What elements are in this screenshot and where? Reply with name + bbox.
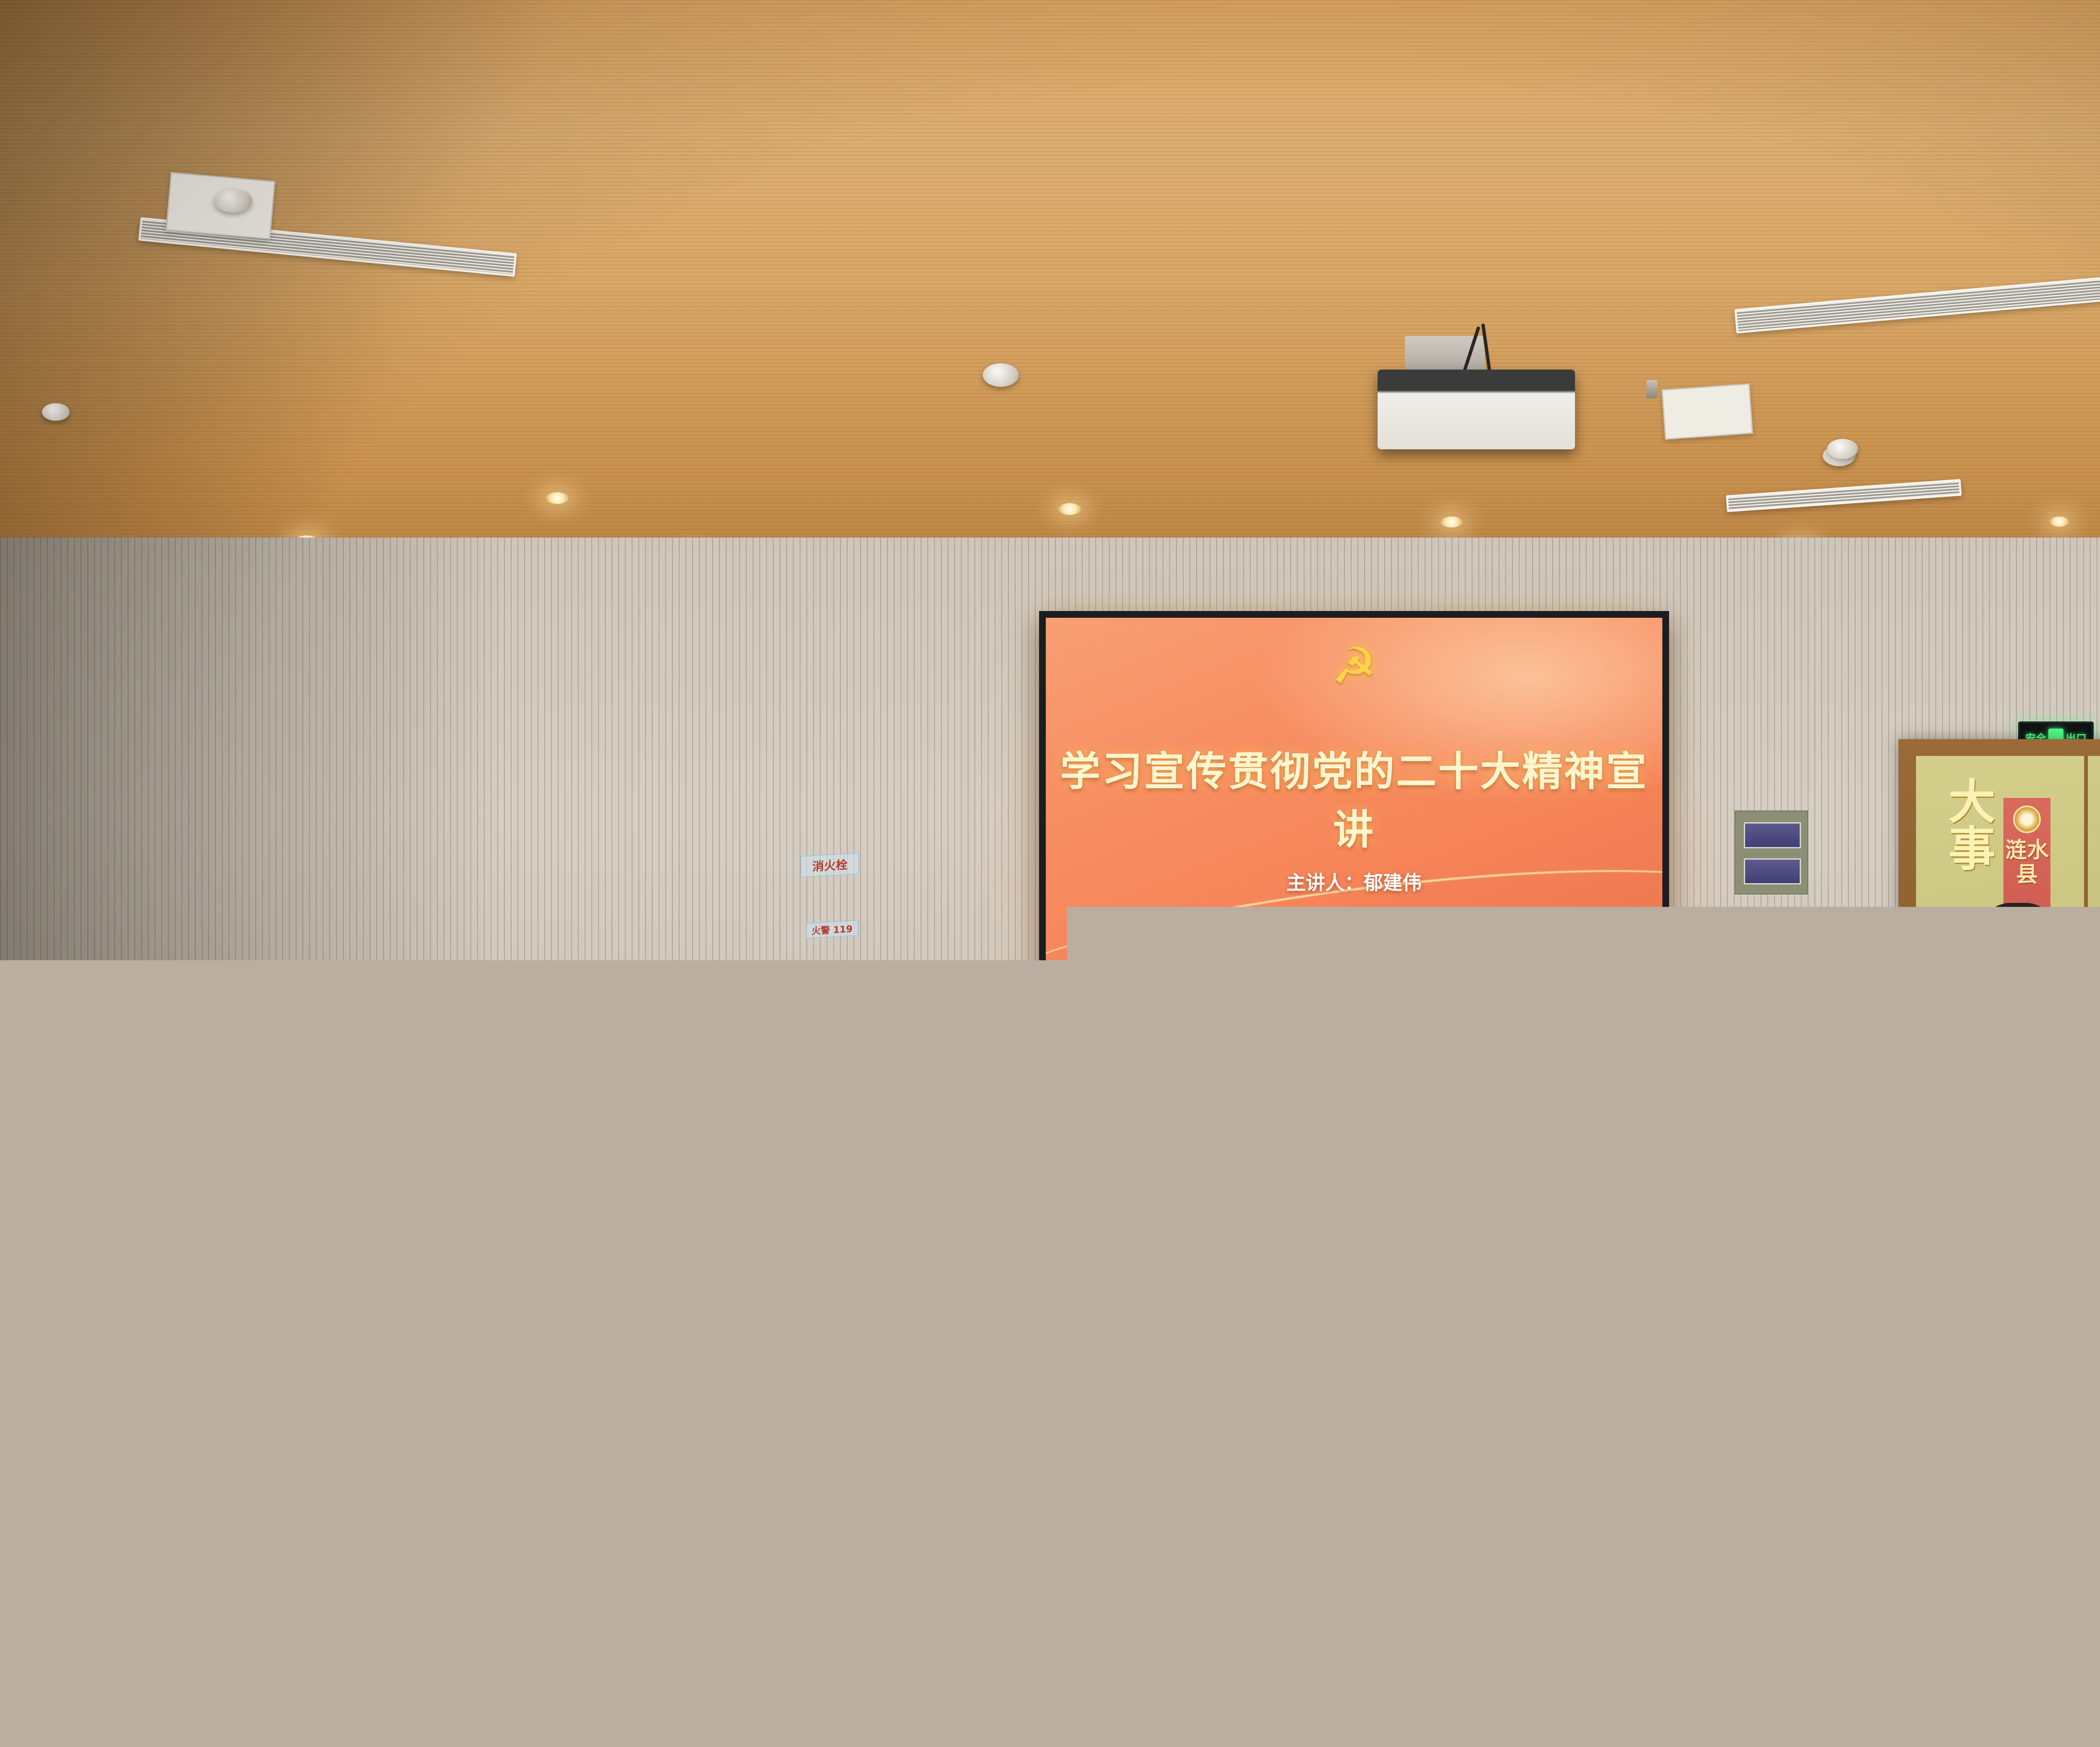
water-bottle <box>1270 1046 1287 1079</box>
fire-alarm-119-sign: 火警 119 <box>806 920 858 939</box>
attendee-head <box>1703 1159 1850 1453</box>
mug-lid <box>1362 1116 1399 1126</box>
vertical-red-sign-text: 涟水县 <box>2003 838 2050 887</box>
ceiling-projector <box>1378 370 1575 449</box>
bottle-label <box>1270 1059 1287 1070</box>
ceiling-downlight <box>1441 517 1462 527</box>
slide-title: 学习宣传贯彻党的二十大精神宣讲 <box>1046 739 1662 855</box>
tote-bag-handle <box>1853 1078 1889 1093</box>
tote-bag: 图书馆 <box>1840 1092 1903 1176</box>
nameplate-zhu-qinling: 朱秦岭 <box>1258 1214 1350 1276</box>
ceiling-shadow-right <box>2033 0 2100 630</box>
nameplate-zhao-yongxiang: 赵永祥 <box>1242 1101 1324 1164</box>
attendee-head <box>538 989 606 1063</box>
breaker-row <box>1744 822 1801 848</box>
water-bottle <box>1469 1370 1501 1461</box>
mug-lid <box>1391 1224 1428 1234</box>
desk-leg <box>1296 1290 1303 1378</box>
mug-coaster <box>1357 1168 1404 1175</box>
chair[interactable] <box>1462 1225 1588 1364</box>
desk-caddy <box>706 1478 827 1625</box>
mug-coaster <box>1387 1273 1433 1280</box>
desk <box>613 1159 953 1176</box>
camera-lcd-screen <box>1938 956 1973 981</box>
ceiling-shadow-left <box>0 0 630 613</box>
chair-mesh <box>1399 1558 1558 1676</box>
doorway-banner-text: 大事 <box>1944 777 1992 871</box>
institution-seal-icon <box>2013 805 2041 833</box>
presenter-head <box>1209 960 1262 1023</box>
desk-leg <box>193 1273 201 1391</box>
tote-bag-handle <box>1802 1082 1837 1097</box>
party-emblem-icon: ☭ <box>1331 641 1377 692</box>
water-bottle <box>1357 1214 1381 1276</box>
desk-leg <box>802 1273 810 1391</box>
conference-room-photo: 消火栓 火警 119 灭火器箱 安全 出口 大事 涟水县 ☭ 学习宣传贯彻党的二… <box>0 0 2100 1747</box>
water-bottle <box>1330 1110 1354 1172</box>
chair-mesh <box>542 1193 672 1272</box>
bottle-label <box>1330 1134 1354 1155</box>
ceiling-downlight <box>2050 517 2069 527</box>
bottle-cap <box>1333 1099 1350 1110</box>
placard-gloss <box>1306 1039 1323 1067</box>
attendee-torso <box>282 1122 543 1378</box>
smoke-detector <box>983 363 1019 387</box>
chair-mesh <box>1466 1230 1583 1360</box>
desk-leg <box>580 1486 589 1654</box>
placard-gloss <box>1254 1101 1272 1164</box>
placard-gloss <box>1343 1361 1373 1459</box>
ceiling-downlight <box>546 492 569 504</box>
attendee-head <box>1646 1075 1725 1159</box>
sprinkler-head <box>1646 380 1657 399</box>
bottle-label <box>1469 1406 1501 1437</box>
extinguisher-box-sign: 灭火器箱 <box>807 1053 862 1074</box>
projection-screen: ☭ 学习宣传贯彻党的二十大精神宣讲 主讲人：郁建伟 主办单位：淮安市图书馆联盟 … <box>1039 611 1669 1044</box>
slide-presenter-line: 主讲人：郁建伟 <box>1046 868 1662 895</box>
attendee-head <box>378 1050 453 1134</box>
attendee-head <box>0 1134 97 1361</box>
bottle-cap <box>1473 1355 1497 1371</box>
placard-gloss <box>1271 1214 1291 1276</box>
tea-mug <box>1394 1231 1426 1275</box>
chair[interactable] <box>1394 1554 1562 1680</box>
door-leaf[interactable] <box>2086 756 2100 1256</box>
tote-bag-text: 图书馆 <box>1840 1120 1903 1131</box>
desk-leg <box>886 1176 894 1256</box>
fire-hydrant-sign: 消火栓 <box>801 853 859 878</box>
ceiling-access-panel <box>1662 383 1753 440</box>
ceiling-downlight <box>1058 503 1081 515</box>
desk-leg <box>1373 1487 1383 1655</box>
ceiling-sensor <box>42 403 70 421</box>
breaker-row <box>1744 858 1801 884</box>
smoke-detector <box>1827 439 1858 459</box>
bottle-cap <box>1273 1038 1284 1046</box>
chair[interactable] <box>538 1188 676 1277</box>
nameplate-yang-qianqian: 杨倩倩 <box>1324 1361 1461 1459</box>
paper-stack <box>714 1461 819 1487</box>
presentation-slide: ☭ 学习宣传贯彻党的二十大精神宣讲 主讲人：郁建伟 主办单位：淮安市图书馆联盟 … <box>1046 618 1662 1037</box>
slide-date: 2022.11.11 <box>1046 1002 1662 1016</box>
bottle-cap <box>1361 1203 1378 1215</box>
electrical-panel <box>1735 811 1808 894</box>
handbag <box>1067 1151 1151 1226</box>
smoke-detector <box>214 189 252 212</box>
glasses-icon <box>1211 983 1258 990</box>
placard-gloss <box>223 1176 245 1248</box>
podium-nameplate: 郁建伟 <box>1296 1039 1369 1067</box>
bottle-label <box>1357 1238 1381 1259</box>
tea-mug <box>1364 1124 1397 1170</box>
